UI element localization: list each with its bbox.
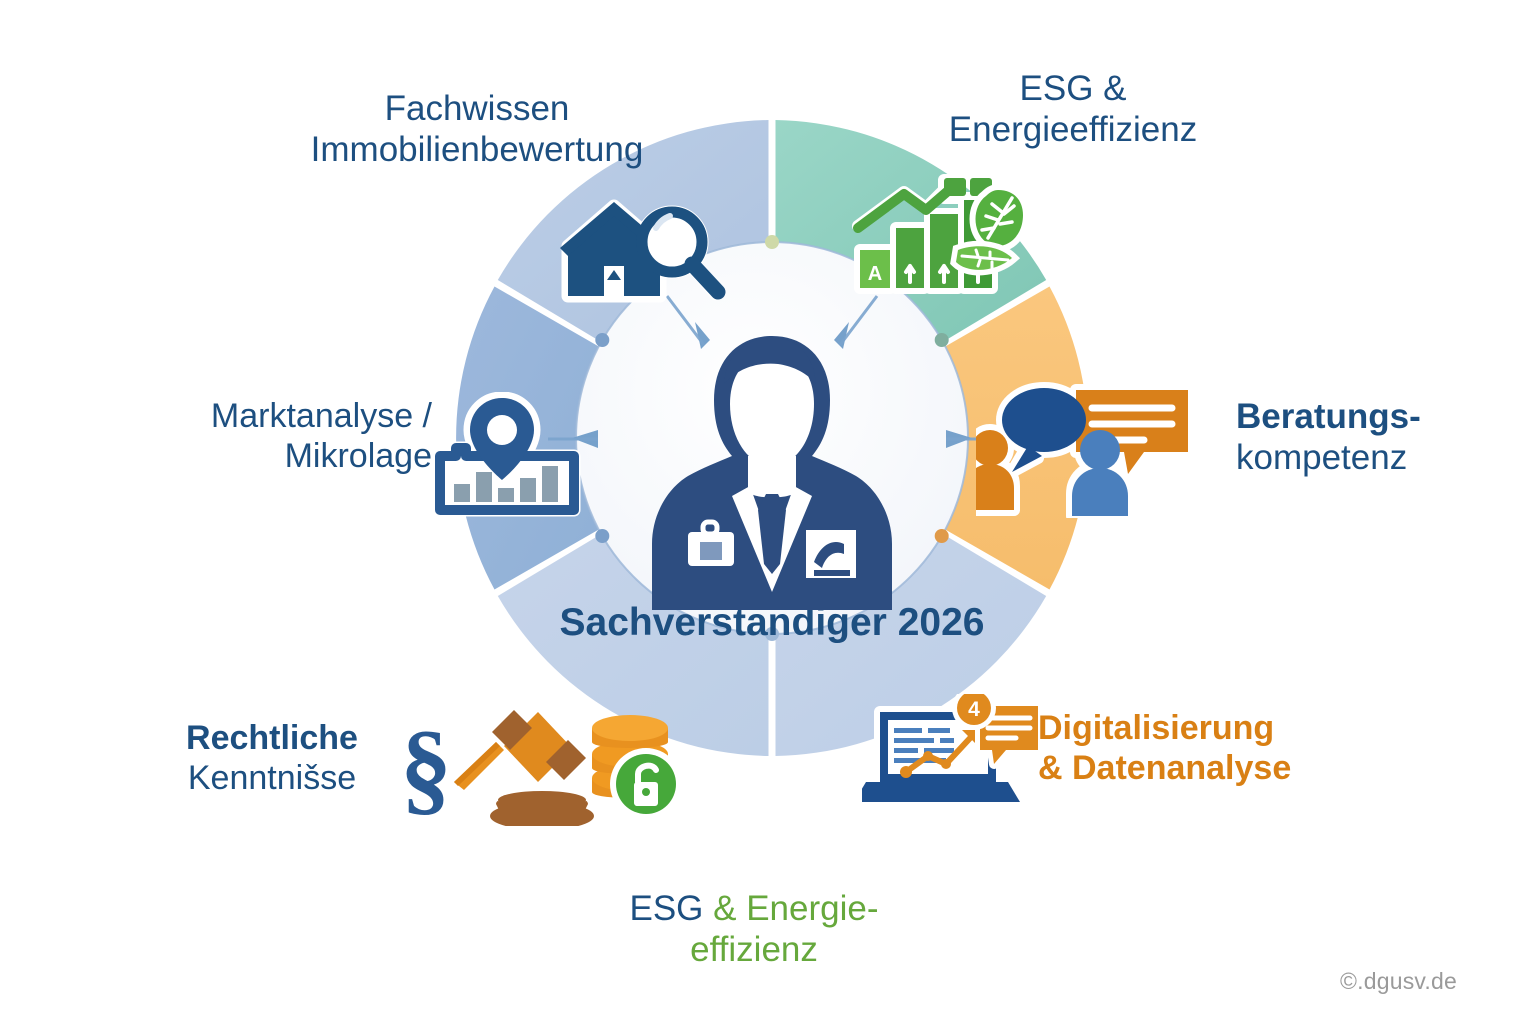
infographic-canvas: Sachverstandiger 2026 [0,0,1536,1024]
label-esg-top-line1: ESG & [948,68,1198,109]
esg-bar-label: A [868,263,882,285]
label-marktanalyse: Marktanalyse / Mikrolage [196,396,432,476]
label-digitalisierung-line2: & Datenanalyse [1038,748,1308,788]
label-rechtliche-line2: Kenntnišse [176,758,368,798]
label-beratungskompetenz-line2: kompetenz [1236,437,1466,478]
label-beratungskompetenz-line1: Beratungs- [1236,396,1466,437]
label-rechtliche-kenntnisse: Rechtliche Kenntnišse [176,718,368,798]
label-esg-bottom-line2: effizienz [620,929,888,970]
laptop-analytics-icon: 4 [862,694,1042,820]
label-esg-top: ESG & Energieeffizienz [948,68,1198,151]
paragraph-symbol: § [400,710,452,825]
label-fachwissen: Fachwissen Immobilienbewertung [306,88,648,171]
label-digitalisierung: Digitalisierung & Datenanalyse [1038,708,1308,788]
label-fachwissen-line2: Immobilienbewertung [306,129,648,170]
label-marktanalyse-line1: Marktanalyse / [196,396,432,436]
label-beratungskompetenz: Beratungs- kompetenz [1236,396,1466,479]
label-esg-bottom: ESG & Energie- effizienz [620,888,888,971]
person-expert-icon [648,318,896,610]
gavel-paragraph-coins-icon: § [396,698,684,826]
notification-badge-count: 4 [968,698,980,721]
label-esg-bottom-part1: ESG [629,889,703,928]
map-pin-chart-icon [432,392,592,522]
copyright-notice: ©.dgusv.de [1340,968,1457,995]
speech-bubbles-people-icon [976,382,1198,518]
label-rechtliche-line1: Rechtliche [176,718,368,758]
house-emblem-icon [806,530,856,578]
label-esg-bottom-line1: ESG & Energie- [620,888,888,929]
label-digitalisierung-line1: Digitalisierung [1038,708,1308,748]
label-esg-top-line2: Energieeffizienz [948,109,1198,150]
label-fachwissen-line1: Fachwissen [306,88,648,129]
house-magnifier-icon [556,190,726,310]
label-marktanalyse-line2: Mikrolage [196,436,432,476]
label-esg-bottom-part2: & Energie- [703,889,878,928]
bar-chart-leaf-icon: A [852,172,1024,296]
